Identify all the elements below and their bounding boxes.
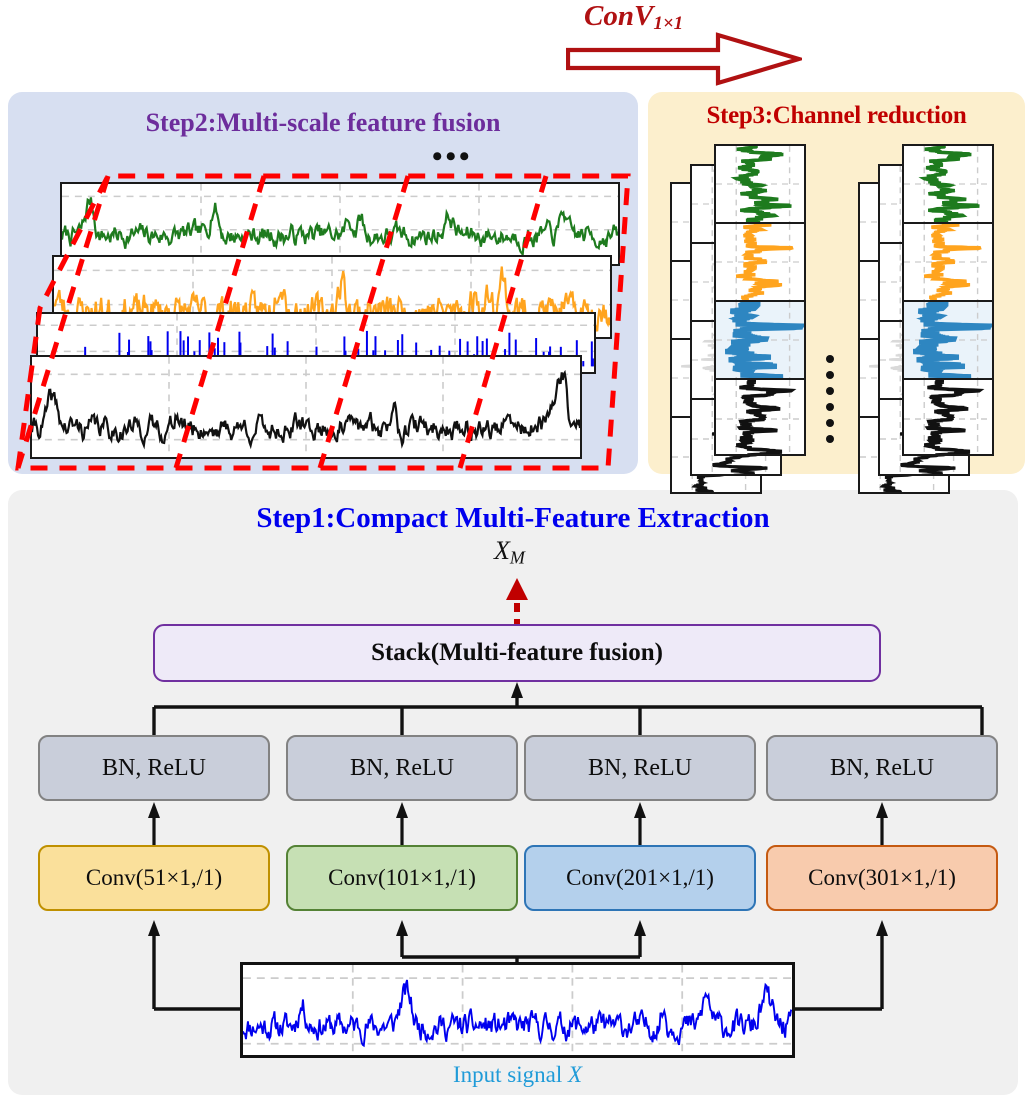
step1-title: Step1:Compact Multi-Feature Extraction <box>8 502 1018 535</box>
blue-channel <box>716 302 806 380</box>
ellipsis-dot <box>826 371 834 379</box>
black-channel <box>904 380 994 456</box>
step3-ellipsis <box>826 355 834 443</box>
input-signal-caption: Input signal X <box>240 1062 795 1088</box>
output-xm-label: XM <box>494 536 525 569</box>
ellipsis-dot <box>826 387 834 395</box>
input-signal-plot <box>240 962 795 1058</box>
ellipsis-dot <box>826 419 834 427</box>
channel-card-front <box>902 144 994 456</box>
bn-relu-box-1[interactable]: BN, ReLU <box>38 735 270 801</box>
bn-relu-box-4[interactable]: BN, ReLU <box>766 735 998 801</box>
channel-card-front <box>714 144 806 456</box>
step2-title: Step2:Multi-scale feature fusion <box>8 108 638 138</box>
green-channel <box>904 146 994 224</box>
conv-box-51[interactable]: Conv(51×1,/1) <box>38 845 270 911</box>
green-feature-wave-card <box>60 182 620 266</box>
black-feature-wave-card <box>30 355 582 459</box>
orange-channel <box>716 224 806 302</box>
stack-fusion-box[interactable]: Stack(Multi-feature fusion) <box>153 624 881 682</box>
conv-box-301[interactable]: Conv(301×1,/1) <box>766 845 998 911</box>
conv-box-201[interactable]: Conv(201×1,/1) <box>524 845 756 911</box>
conv1x1-header: ConV1×1 <box>548 0 848 86</box>
bn-relu-box-3[interactable]: BN, ReLU <box>524 735 756 801</box>
ellipsis-dot <box>826 435 834 443</box>
blue-channel <box>904 302 994 380</box>
step3-title: Step3:Channel reduction <box>648 102 1025 130</box>
ellipsis-dot <box>826 403 834 411</box>
figure-root: ConV1×1 Step2:Multi-scale feature fusion… <box>0 0 1025 1101</box>
output-arrow-icon <box>505 576 529 628</box>
black-channel <box>716 380 806 456</box>
green-channel <box>716 146 806 224</box>
right-arrow-icon <box>566 32 802 86</box>
bn-relu-box-2[interactable]: BN, ReLU <box>286 735 518 801</box>
conv1x1-label: ConV1×1 <box>584 0 683 35</box>
orange-channel <box>904 224 994 302</box>
ellipsis-dot <box>826 355 834 363</box>
conv-box-101[interactable]: Conv(101×1,/1) <box>286 845 518 911</box>
step2-ellipsis: ••• <box>432 152 473 162</box>
